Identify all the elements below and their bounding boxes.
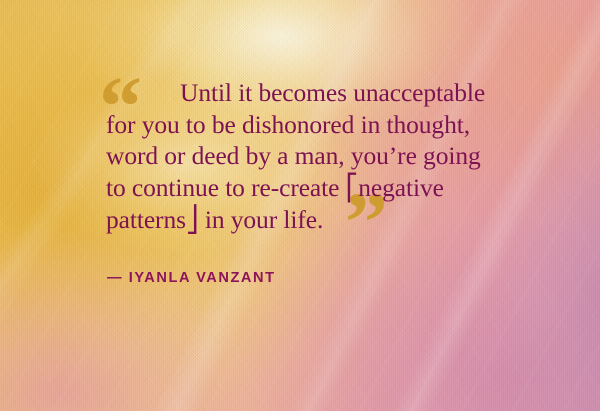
quote-line: word or deed by a man, you’re going [106, 140, 530, 172]
quote-line: patterns⎦ in your life. [106, 204, 530, 236]
quote-line: to continue to re-create ⎡negative [106, 172, 530, 204]
quote-attribution: — IYANLA VANZANT [107, 270, 276, 286]
quote-line: Until it becomes unacceptable [106, 77, 530, 109]
quote-body: Until it becomes unacceptable for you to… [106, 77, 530, 236]
quote-line: for you to be dishonored in thought, [106, 109, 530, 141]
quote-content: “ ” Until it becomes unacceptable for yo… [0, 0, 600, 411]
quote-card: “ ” Until it becomes unacceptable for yo… [0, 0, 600, 411]
